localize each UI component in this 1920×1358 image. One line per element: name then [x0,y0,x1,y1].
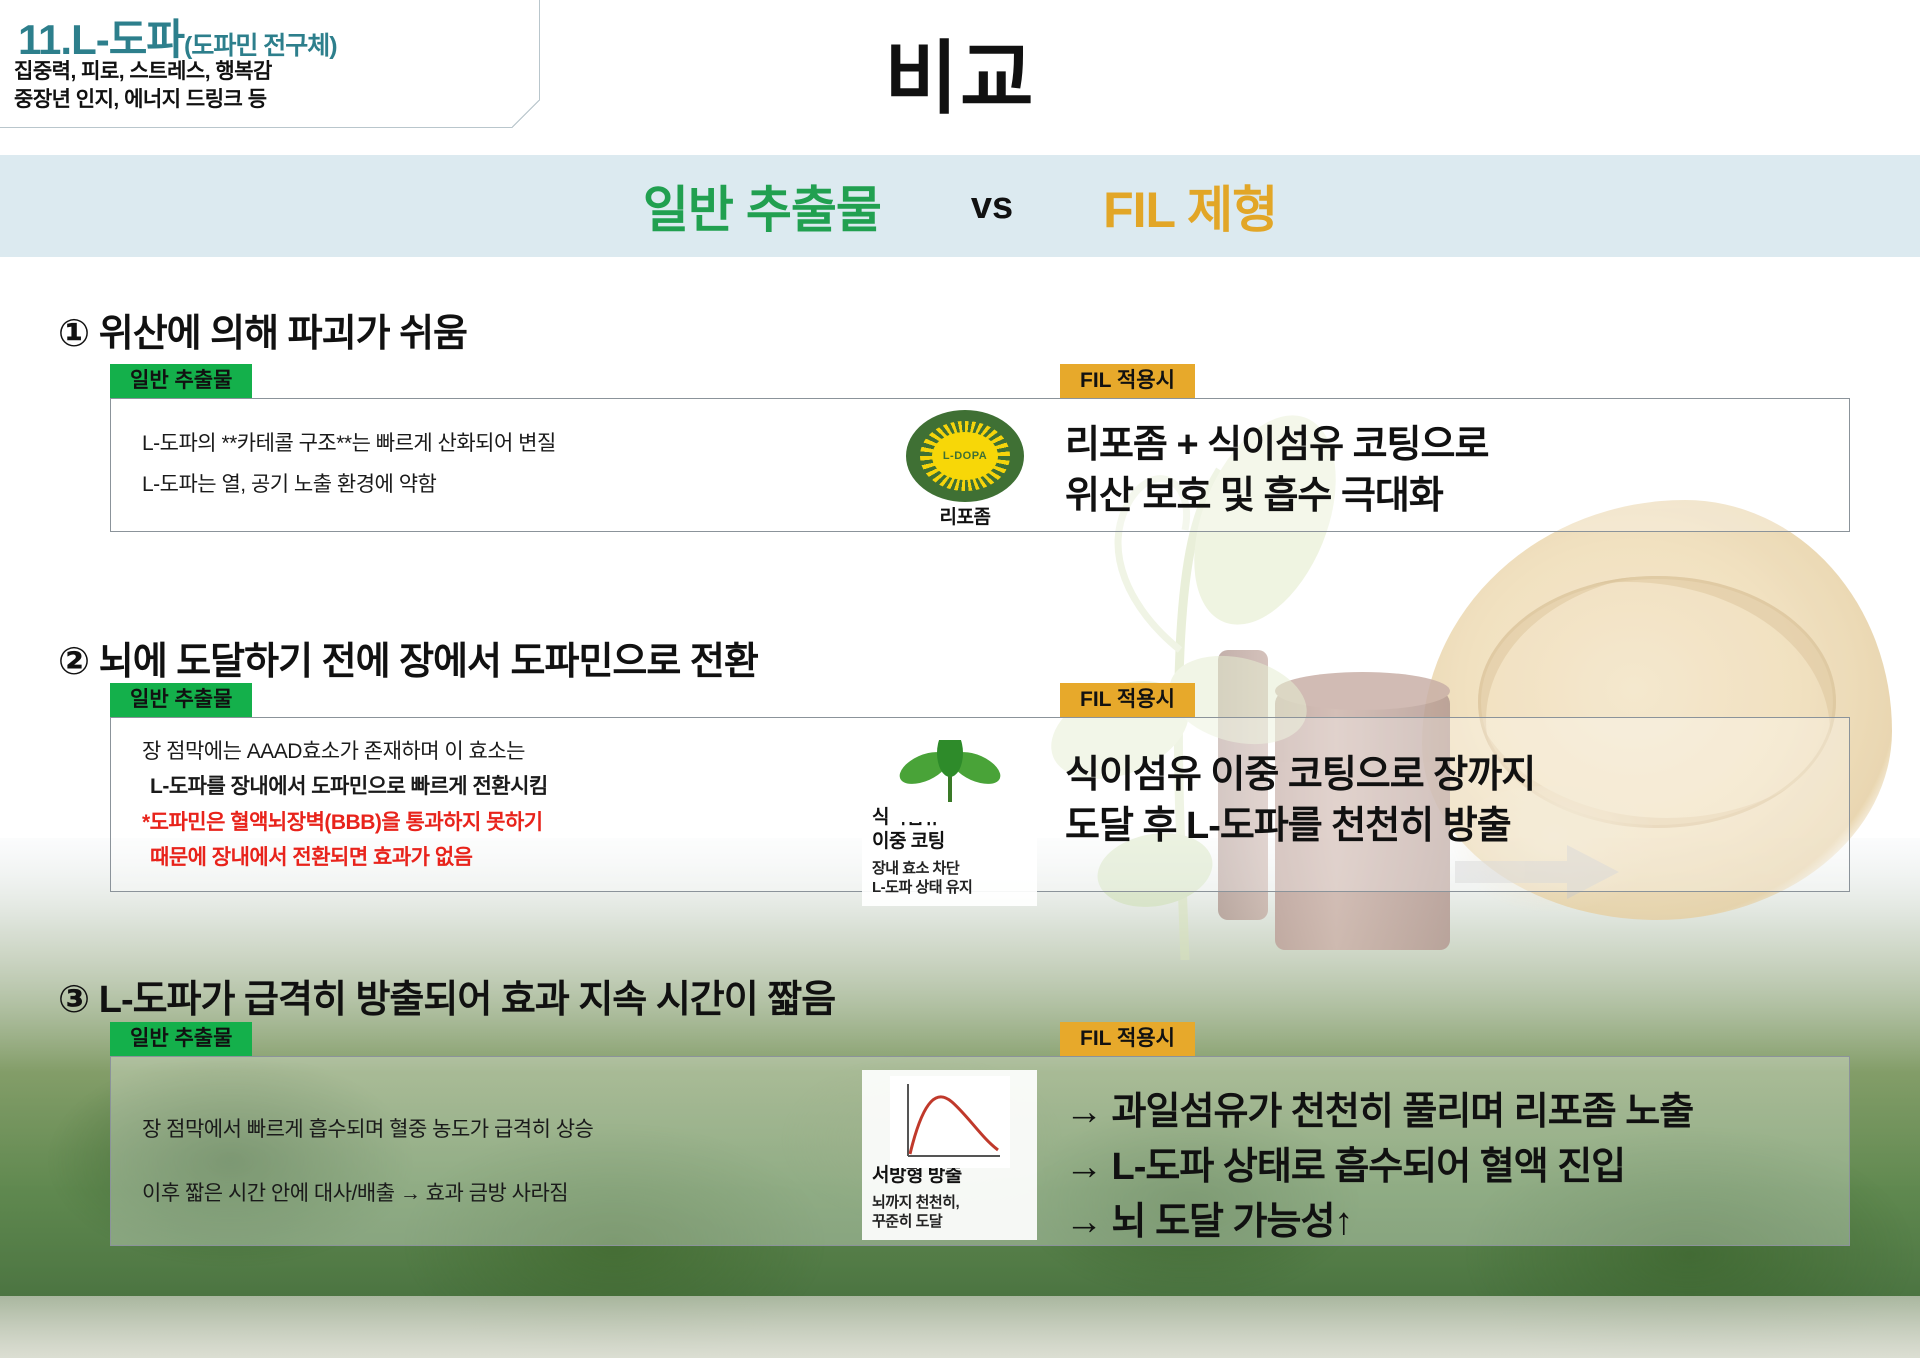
section-1-left-text: L-도파의 **카테콜 구조**는 빠르게 산화되어 변질 L-도파는 열, 공… [142,424,556,506]
section-1-badge-fil: FIL 적용시 [1060,364,1195,398]
section-2-right-text: 식이섬유 이중 코팅으로 장까지 도달 후 L-도파를 천천히 방출 [1065,750,1535,853]
section-2-badge-fil: FIL 적용시 [1060,683,1195,717]
section-2-right-line-2: 도달 후 L-도파를 천천히 방출 [1065,801,1535,852]
band-label-fil: FIL 제형 [1103,170,1277,242]
section-1-icon-caption: 리포좀 [880,506,1050,530]
bottom-gray-bar [0,1296,1920,1358]
tag-subtitle-line2: 중장년 인지, 에너지 드링크 등 [14,86,272,114]
section-1-left-line-1: L-도파의 **카테콜 구조**는 빠르게 산화되어 변질 [142,424,556,465]
section-3-heading: ③ L-도파가 급격히 방출되어 효과 지속 시간이 짧음 [58,968,835,1023]
section-2-left-line-4: 때문에 장내에서 전환되면 효과가 없음 [142,840,548,875]
section-3-right-line-2: → L-도파 상태로 흡수되어 혈액 진입 [1065,1140,1693,1195]
section-2-icon-caption-2: 이중 코팅 [872,830,1027,854]
section-1-right-line-2: 위산 보호 및 흡수 극대화 [1065,471,1488,522]
section-1-right-text: 리포좀 + 식이섬유 코팅으로 위산 보호 및 흡수 극대화 [1065,420,1488,523]
section-2-left-line-2: L-도파를 장내에서 도파민으로 빠르게 전환시킴 [142,769,548,804]
section-3-right-text: → 과일섬유가 천천히 풀리며 리포좀 노출 → L-도파 상태로 흡수되어 혈… [1065,1085,1693,1250]
title-tag-card: 11.L-도파(도파민 전구체) 집중력, 피로, 스트레스, 행복감 중장년 … [0,0,540,128]
section-3-icon-sub-2: 꾸준히 도달 [872,1212,1027,1232]
section-3-right-line-1: → 과일섬유가 천천히 풀리며 리포좀 노출 [1065,1085,1693,1140]
section-3-icon-block: 서방형 방출 뇌까지 천천히, 꾸준히 도달 [862,1070,1037,1240]
section-3-left-line-1: 장 점막에서 빠르게 흡수되며 혈중 농도가 급격히 상승 [142,1098,593,1162]
section-2-heading: ② 뇌에 도달하기 전에 장에서 도파민으로 전환 [58,630,758,685]
sustained-release-curve-icon [890,1076,1010,1168]
folded-corner-icon [512,100,540,128]
section-1-badge-standard: 일반 추출물 [110,364,252,398]
section-2-left-line-3: *도파민은 혈액뇌장벽(BBB)을 통과하지 못하기 [142,805,548,840]
section-2-right-line-1: 식이섬유 이중 코팅으로 장까지 [1065,750,1535,801]
liposome-core-label: L-DOPA [943,450,987,462]
section-2-icon-sub-2: L-도파 상태 유지 [872,878,1027,898]
section-3-left-line-2: 이후 짧은 시간 안에 대사/배출 → 효과 금방 사라짐 [142,1162,593,1226]
section-3-right-line-3: → 뇌 도달 가능성↑ [1065,1195,1693,1250]
tag-subtitle-line1: 집중력, 피로, 스트레스, 행복감 [14,58,272,86]
dietary-fiber-double-coating-icon [890,732,1010,822]
section-3-left-text: 장 점막에서 빠르게 흡수되며 혈중 농도가 급격히 상승 이후 짧은 시간 안… [142,1098,593,1226]
section-2-left-line-1: 장 점막에는 AAAD효소가 존재하며 이 효소는 [142,734,548,769]
section-2-badge-standard: 일반 추출물 [110,683,252,717]
section-3-badge-fil: FIL 적용시 [1060,1022,1195,1056]
tag-subtitle: 집중력, 피로, 스트레스, 행복감 중장년 인지, 에너지 드링크 등 [14,58,272,115]
section-2-left-text: 장 점막에는 AAAD효소가 존재하며 이 효소는 L-도파를 장내에서 도파민… [142,734,548,875]
section-1-icon-block: L-DOPA 리포좀 [880,410,1050,530]
liposome-icon: L-DOPA [906,410,1024,502]
section-1-right-line-1: 리포좀 + 식이섬유 코팅으로 [1065,420,1488,471]
band-label-standard: 일반 추출물 [643,170,881,242]
comparison-band: 일반 추출물 vs FIL 제형 [0,155,1920,257]
section-1-heading: ① 위산에 의해 파괴가 쉬움 [58,302,467,357]
slide-root: 11.L-도파(도파민 전구체) 집중력, 피로, 스트레스, 행복감 중장년 … [0,0,1920,1358]
section-1-left-line-2: L-도파는 열, 공기 노출 환경에 약함 [142,465,556,506]
section-2-icon-block: 식이섬유 이중 코팅 장내 효소 차단 L-도파 상태 유지 [862,726,1037,906]
section-3-badge-standard: 일반 추출물 [110,1022,252,1056]
band-label-vs: vs [971,185,1013,228]
section-3-icon-sub-1: 뇌까지 천천히, [872,1193,1027,1213]
tag-title-paren: (도파민 전구체) [184,32,337,60]
section-2-icon-sub-1: 장내 효소 차단 [872,859,1027,879]
